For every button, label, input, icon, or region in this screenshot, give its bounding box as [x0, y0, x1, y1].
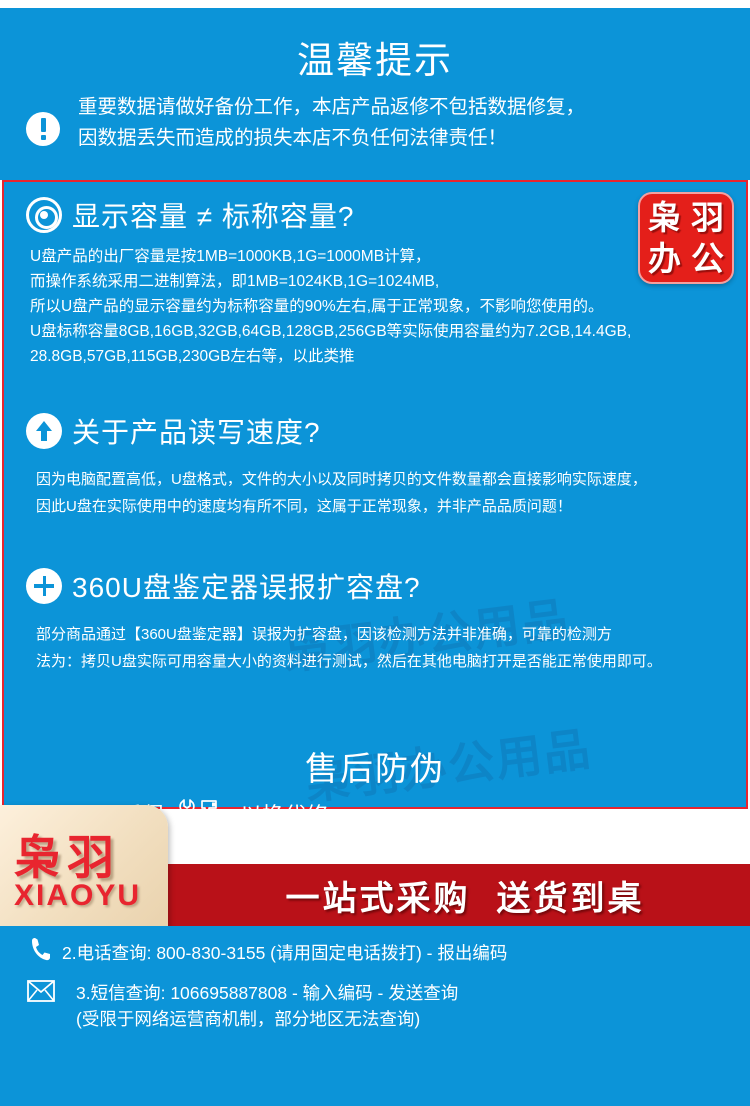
body-line: 法为：拷贝U盘实际可用容量大小的资料进行测试，然后在其他电脑打开是否能正常使用即… — [36, 648, 736, 675]
section-speed: 关于产品读写速度? 因为电脑配置高低，U盘格式，文件的大小以及同时拷贝的文件数量… — [4, 410, 750, 520]
envelope-icon — [27, 980, 55, 1002]
contact-sms-block: 3.短信查询: 106695887808 - 输入编码 - 发送查询 (受限于网… — [62, 980, 458, 1032]
plus-icon — [26, 568, 62, 604]
body-line: U盘产品的出厂容量是按1MB=1000KB,1G=1000MB计算， — [30, 244, 736, 269]
top-white-separator — [0, 0, 750, 8]
section-speed-title: 关于产品读写速度? — [72, 411, 321, 451]
brand-name-en: XIAOYU — [14, 879, 141, 913]
body-line: 因为电脑配置高低，U盘格式，文件的大小以及同时拷贝的文件数量都会直接影响实际速度… — [36, 466, 736, 493]
red-banner-text: 一站式采购 送货到桌 — [180, 864, 750, 926]
body-line: 而操作系统采用二进制算法，即1MB=1024KB,1G=1024MB, — [30, 269, 736, 294]
brand-logo: 枭羽 XIAOYU — [0, 805, 168, 930]
section-capacity-title: 显示容量 ≠ 标称容量? — [72, 195, 355, 235]
section-speed-body: 因为电脑配置高低，U盘格式，文件的大小以及同时拷贝的文件数量都会直接影响实际速度… — [4, 452, 750, 520]
brand-name-cn: 枭羽 — [14, 819, 120, 888]
section-360-title: 360U盘鉴定器误报扩容盘? — [72, 566, 421, 606]
contact-sms-line-1: 3.短信查询: 106695887808 - 输入编码 - 发送查询 — [62, 980, 458, 1006]
header-note-line-2: 因数据丢失而造成的损失本店不负任何法律责任！ — [78, 123, 718, 154]
section-360-body: 部分商品通过【360U盘鉴定器】误报为扩容盘，因该检测方法并非准确，可靠的检测方… — [4, 607, 750, 675]
body-line: 部分商品通过【360U盘鉴定器】误报为扩容盘，因该检测方法并非准确，可靠的检测方 — [36, 621, 736, 648]
target-icon — [26, 197, 62, 233]
contact-phone-line: 2.电话查询: 800-830-3155 (请用固定电话拨打) - 报出编码 — [62, 940, 507, 966]
exclamation-icon — [26, 112, 60, 146]
body-line: 28.8GB,57GB,115GB,230GB左右等，以此类推 — [30, 344, 736, 369]
contact-sms-line-2: (受限于网络运营商机制，部分地区无法查询) — [62, 1006, 458, 1032]
section-capacity-body: U盘产品的出厂容量是按1MB=1000KB,1G=1000MB计算， 而操作系统… — [4, 236, 750, 369]
section-360-detector: 360U盘鉴定器误报扩容盘? 部分商品通过【360U盘鉴定器】误报为扩容盘，因该… — [4, 565, 750, 675]
warranty-label-right: :以换代修 — [234, 798, 328, 830]
body-line: 因此U盘在实际使用中的速度均有所不同，这属于正常现象，并非产品品质问题！ — [36, 493, 736, 520]
banner-text-left: 一站式采购 — [286, 871, 471, 920]
header-note-line-1: 重要数据请做好备份工作，本店产品返修不包括数据修复， — [78, 92, 718, 123]
body-line: 所以U盘产品的显示容量约为标称容量的90%左右,属于正常现象，不影响您使用的。 — [30, 294, 736, 319]
page-title: 温馨提示 — [0, 30, 750, 84]
tools-icon — [176, 798, 222, 830]
arrow-up-icon — [26, 413, 62, 449]
section-speed-head: 关于产品读写速度? — [4, 410, 750, 452]
section-capacity: 显示容量 ≠ 标称容量? U盘产品的出厂容量是按1MB=1000KB,1G=10… — [4, 194, 750, 369]
section-capacity-head: 显示容量 ≠ 标称容量? — [4, 194, 750, 236]
body-line: U盘标称容量8GB,16GB,32GB,64GB,128GB,256GB等实际使… — [30, 319, 736, 344]
section-360-head: 360U盘鉴定器误报扩容盘? — [4, 565, 750, 607]
promo-page: 温馨提示 重要数据请做好备份工作，本店产品返修不包括数据修复， 因数据丢失而造成… — [0, 0, 750, 1106]
header-note: 重要数据请做好备份工作，本店产品返修不包括数据修复， 因数据丢失而造成的损失本店… — [78, 92, 718, 154]
banner-text-right: 送货到桌 — [497, 871, 645, 920]
phone-icon — [28, 936, 54, 962]
after-sales-title: 售后防伪 — [0, 742, 750, 790]
content-frame: 枭羽办公用品 枭羽办公用品 枭 羽 办 公 显示容量 ≠ 标称容量? U盘产品的… — [2, 180, 748, 809]
